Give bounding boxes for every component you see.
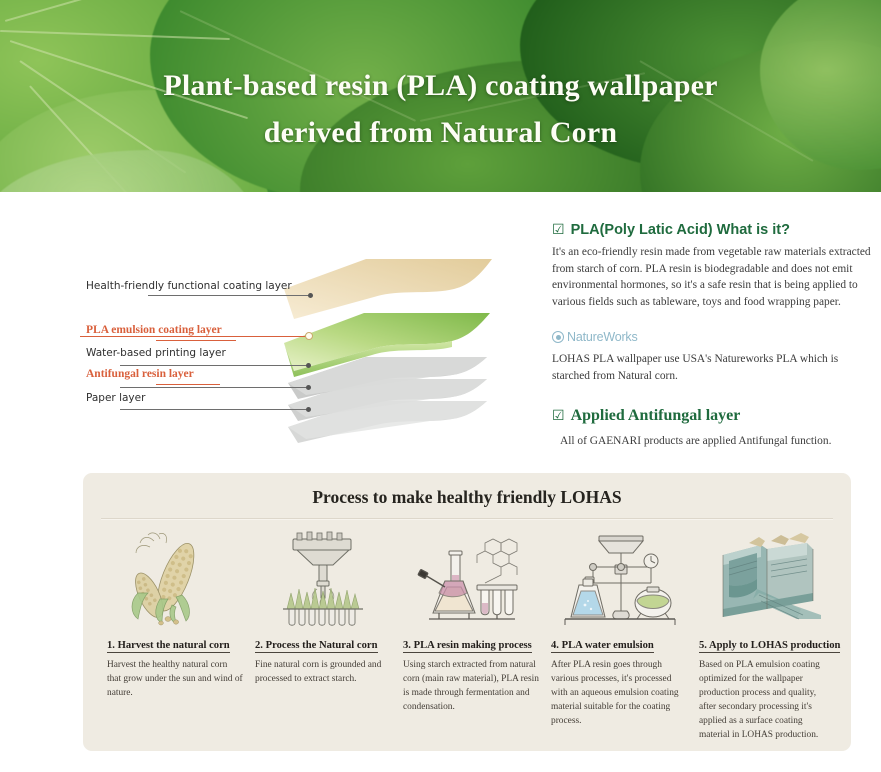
process-steps: 1. Harvest the natural corn Harvest the … (101, 529, 841, 742)
layer-label-functional: Health-friendly functional coating layer (86, 280, 292, 292)
layer-underline-antifungal (156, 384, 220, 385)
natureworks-mark-icon (552, 331, 564, 343)
middle-section: Health-friendly functional coating layer… (0, 192, 881, 468)
info-body-pla: It's an eco-friendly resin made from veg… (552, 244, 874, 310)
process-step-2-body: Fine natural corn is grounded and proces… (255, 658, 391, 686)
process-step-3-title: 3. PLA resin making process (403, 640, 532, 653)
process-step-1-body: Harvest the healthy natural corn that gr… (107, 658, 243, 700)
layer-anchor-antifungal (306, 385, 311, 390)
layer-leader-antifungal (120, 387, 310, 388)
checkbox-checked-icon: ☑ (552, 223, 565, 237)
process-step-2: 2. Process the Natural corn Fine natural… (249, 529, 397, 742)
info-column: ☑ PLA(Poly Latic Acid) What is it? It's … (552, 222, 874, 449)
process-step-3-body: Using starch extracted from natural corn… (403, 658, 539, 714)
milling-machine-icon (255, 529, 391, 627)
layer-anchor-printing (306, 363, 311, 368)
process-step-5-body: Based on PLA emulsion coating optimized … (699, 658, 835, 742)
hero-title-line1: Plant-based resin (PLA) coating wallpape… (0, 62, 881, 109)
production-line-icon (699, 529, 835, 627)
info-heading-pla: ☑ PLA(Poly Latic Acid) What is it? (552, 222, 874, 238)
info-heading-antifungal-text: Applied Antifungal layer (571, 407, 741, 425)
layer-underline-pla (156, 340, 236, 341)
process-step-4: 4. PLA water emulsion After PLA resin go… (545, 529, 693, 742)
layer-label-pla-emulsion: PLA emulsion coating layer (86, 324, 222, 336)
layer-leader-functional (148, 295, 311, 296)
layer-label-antifungal: Antifungal resin layer (86, 368, 194, 380)
layer-leader-pla (80, 336, 307, 337)
process-step-1-title: 1. Harvest the natural corn (107, 640, 230, 653)
layer-diagram (260, 247, 510, 447)
process-step-4-title: 4. PLA water emulsion (551, 640, 654, 653)
lab-apparatus-icon (551, 529, 687, 627)
checkbox-checked-icon-2: ☑ (552, 409, 565, 423)
layer-anchor-functional (308, 293, 313, 298)
layer-leader-paper (120, 409, 310, 410)
process-step-5-title: 5. Apply to LOHAS production (699, 640, 840, 653)
layer-anchor-paper (306, 407, 311, 412)
info-heading-antifungal: ☑ Applied Antifungal layer (552, 407, 874, 425)
natureworks-logo: NatureWorks (552, 330, 874, 344)
layer-sheet-functional-coating (280, 255, 495, 327)
info-body-natureworks: LOHAS PLA wallpaper use USA's Naturework… (552, 351, 874, 384)
process-panel: Process to make healthy friendly LOHAS (83, 473, 851, 751)
flask-molecule-icon (403, 529, 539, 627)
layer-label-paper: Paper layer (86, 392, 145, 404)
process-panel-divider (101, 518, 833, 519)
natureworks-logo-text: NatureWorks (567, 330, 638, 344)
hero-banner: Plant-based resin (PLA) coating wallpape… (0, 0, 881, 192)
layer-anchor-pla (305, 332, 313, 340)
process-step-2-title: 2. Process the Natural corn (255, 640, 378, 653)
hero-title: Plant-based resin (PLA) coating wallpape… (0, 62, 881, 156)
corn-cobs-icon (107, 529, 243, 627)
hero-title-line2: derived from Natural Corn (0, 109, 881, 156)
layer-leader-printing (120, 365, 310, 366)
process-panel-title: Process to make healthy friendly LOHAS (83, 487, 851, 508)
process-step-3: 3. PLA resin making process Using starch… (397, 529, 545, 742)
info-heading-pla-text: PLA(Poly Latic Acid) What is it? (571, 222, 790, 238)
process-step-4-body: After PLA resin goes through various pro… (551, 658, 687, 728)
process-step-5: 5. Apply to LOHAS production Based on PL… (693, 529, 841, 742)
process-step-1: 1. Harvest the natural corn Harvest the … (101, 529, 249, 742)
info-body-antifungal: All of GAENARI products are applied Anti… (552, 433, 874, 450)
layer-label-printing: Water-based printing layer (86, 347, 226, 359)
